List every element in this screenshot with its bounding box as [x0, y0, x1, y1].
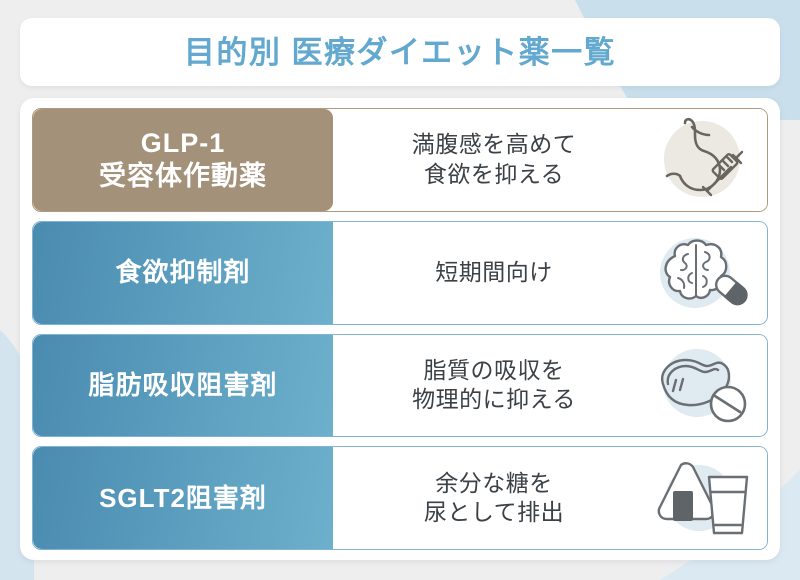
table-row[interactable]: 食欲抑制剤 短期間向け: [32, 221, 768, 325]
page-title: 目的別 医療ダイエット薬一覧: [184, 37, 616, 68]
drug-list-card: GLP-1 受容体作動薬 満腹感を高めて 食欲を抑える: [20, 98, 780, 560]
row-description: 余分な糖を 尿として排出: [343, 469, 645, 528]
infographic-stage: 目的別 医療ダイエット薬一覧 GLP-1 受容体作動薬 満腹感を高めて 食欲を抑…: [0, 0, 800, 580]
row-body: 満腹感を高めて 食欲を抑える: [333, 109, 767, 211]
onigiri-water-icon: [645, 451, 753, 545]
row-body: 短期間向け: [333, 222, 767, 324]
row-description-line: 食欲を抑える: [343, 160, 645, 189]
row-description-line: 満腹感を高めて: [343, 130, 645, 159]
row-label-line: SGLT2阻害剤: [99, 483, 267, 514]
title-card: 目的別 医療ダイエット薬一覧: [20, 18, 780, 86]
row-label-line: GLP-1: [99, 127, 267, 159]
row-body: 脂質の吸収を 物理的に抑える: [333, 335, 767, 437]
row-description-line: 短期間向け: [343, 258, 645, 287]
row-description: 満腹感を高めて 食欲を抑える: [343, 130, 645, 189]
row-label-line: 脂肪吸収阻害剤: [88, 370, 277, 401]
row-description-line: 脂質の吸収を: [343, 356, 645, 385]
row-label-sglt2-inhibitor: SGLT2阻害剤: [33, 447, 333, 549]
table-row[interactable]: SGLT2阻害剤 余分な糖を 尿として排出: [32, 446, 768, 550]
row-body: 余分な糖を 尿として排出: [333, 447, 767, 549]
row-label-appetite-suppressant: 食欲抑制剤: [33, 222, 333, 324]
row-description: 脂質の吸収を 物理的に抑える: [343, 356, 645, 415]
row-description-line: 余分な糖を: [343, 469, 645, 498]
row-description-line: 尿として排出: [343, 498, 645, 527]
row-description-line: 物理的に抑える: [343, 385, 645, 414]
table-row[interactable]: 脂肪吸収阻害剤 脂質の吸収を 物理的に抑える: [32, 334, 768, 438]
fat-tablet-icon: [645, 338, 753, 432]
stomach-syringe-icon: [645, 113, 753, 207]
brain-capsule-icon: [645, 226, 753, 320]
row-label-fat-absorption-inhibitor: 脂肪吸収阻害剤: [33, 335, 333, 437]
row-label-glp1: GLP-1 受容体作動薬: [33, 109, 333, 211]
row-label-line: 食欲抑制剤: [115, 257, 250, 288]
row-label-line: 受容体作動薬: [99, 160, 267, 192]
row-description: 短期間向け: [343, 258, 645, 287]
table-row[interactable]: GLP-1 受容体作動薬 満腹感を高めて 食欲を抑える: [32, 108, 768, 212]
